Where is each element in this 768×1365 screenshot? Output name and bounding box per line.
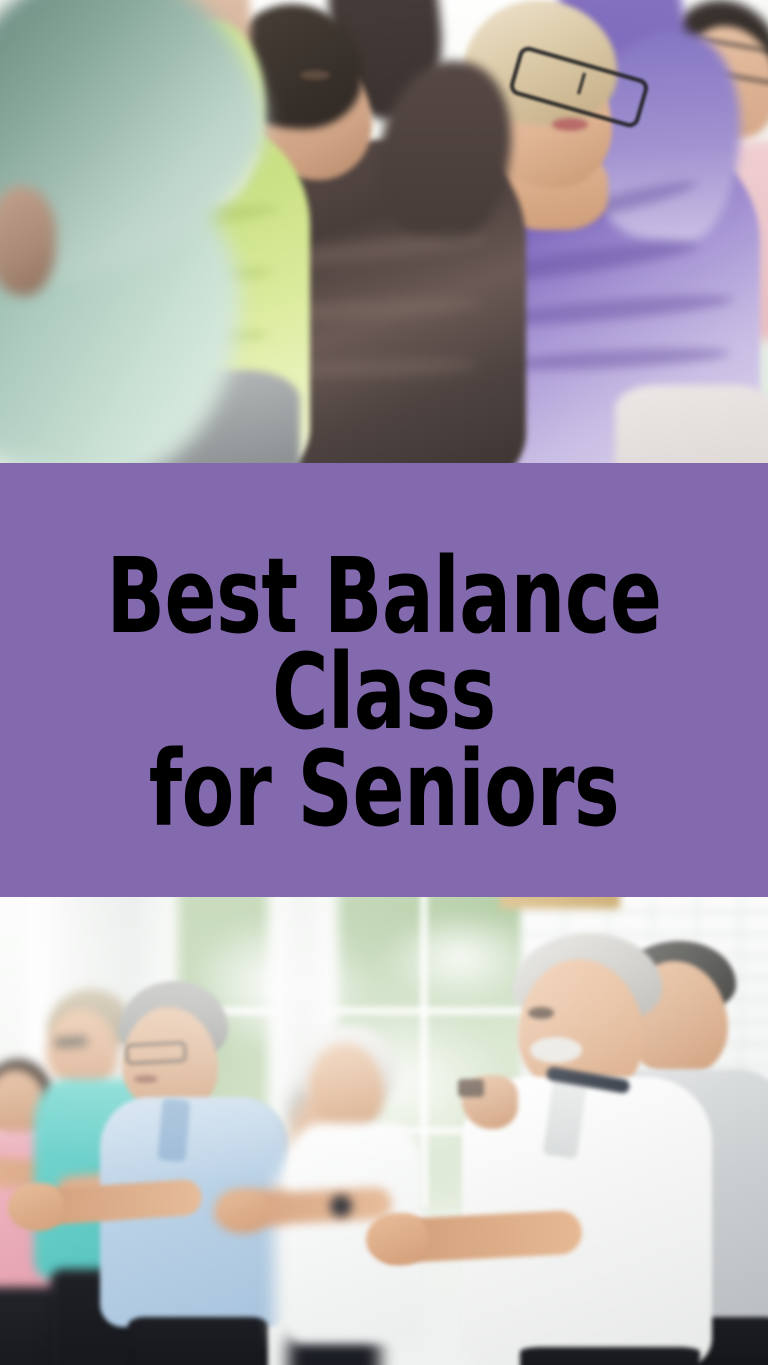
legs (520, 1347, 700, 1365)
pin-graphic: Best Balance Class for Seniors IMPROVE M… (0, 0, 768, 1365)
photo-vignette (0, 0, 768, 463)
hand (8, 1183, 64, 1231)
page-title: Best Balance Class for Seniors (0, 463, 768, 838)
legs (128, 1317, 268, 1365)
title-banner: Best Balance Class for Seniors IMPROVE M… (0, 463, 768, 897)
eye (528, 1007, 554, 1019)
glasses-icon (126, 1041, 187, 1064)
top-photo (0, 0, 768, 463)
polo-placket (157, 1098, 190, 1162)
tattoo (458, 1079, 484, 1097)
headline-line-2: for Seniors (69, 742, 699, 838)
wristwatch (330, 1195, 352, 1217)
hand (366, 1213, 428, 1265)
hand (214, 1189, 268, 1233)
mouth (134, 1075, 158, 1083)
bottom-photo (0, 897, 768, 1365)
wood-trim (500, 897, 620, 909)
mustache (530, 1037, 582, 1063)
headline-line-1: Best Balance Class (69, 549, 699, 740)
